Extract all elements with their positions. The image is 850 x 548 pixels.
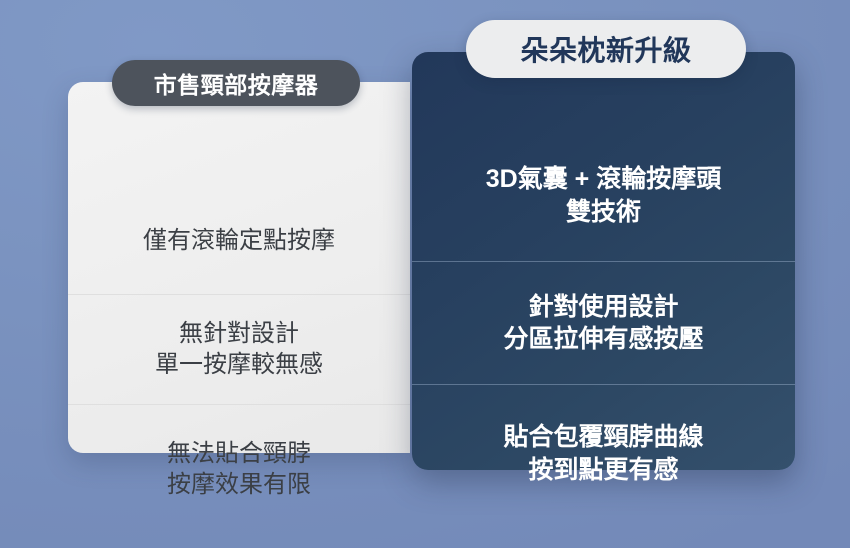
competitor-row-3-line-2: 按摩效果有限 bbox=[167, 470, 311, 501]
product-row-1-line-2: 雙技術 bbox=[486, 196, 721, 229]
product-row-2-line-1: 針對使用設計 bbox=[503, 291, 703, 324]
product-card: 3D氣囊 + 滾輪按摩頭 雙技術 針對使用設計 分區拉伸有感按壓 貼合包覆頸脖曲… bbox=[412, 52, 795, 470]
product-row-1-text: 3D氣囊 + 滾輪按摩頭 雙技術 bbox=[486, 163, 721, 228]
product-row-2-text: 針對使用設計 分區拉伸有感按壓 bbox=[503, 291, 703, 356]
product-row-3-line-2: 按到點更有感 bbox=[503, 454, 703, 487]
product-row-list: 3D氣囊 + 滾輪按摩頭 雙技術 針對使用設計 分區拉伸有感按壓 貼合包覆頸脖曲… bbox=[412, 130, 795, 470]
competitor-card: 僅有滾輪定點按摩 無針對設計 單一按摩較無感 無法貼合頸脖 按摩效果有限 bbox=[68, 82, 410, 453]
competitor-row-3-text: 無法貼合頸脖 按摩效果有限 bbox=[167, 439, 311, 500]
competitor-row-1-text: 僅有滾輪定點按摩 bbox=[143, 226, 335, 257]
product-row-2-line-2: 分區拉伸有感按壓 bbox=[503, 323, 703, 356]
competitor-row-3-line-1: 無法貼合頸脖 bbox=[167, 439, 311, 470]
competitor-row-1-line-1: 僅有滾輪定點按摩 bbox=[143, 226, 335, 257]
competitor-header-pill: 市售頸部按摩器 bbox=[112, 60, 360, 106]
product-row-3-line-1: 貼合包覆頸脖曲線 bbox=[503, 421, 703, 454]
product-header-pill: 朵朵枕新升級 bbox=[466, 20, 746, 78]
product-row-2: 針對使用設計 分區拉伸有感按壓 bbox=[412, 262, 795, 385]
product-row-3-text: 貼合包覆頸脖曲線 按到點更有感 bbox=[503, 421, 703, 486]
competitor-row-2-line-1: 無針對設計 bbox=[155, 319, 323, 350]
product-row-1-line-1: 3D氣囊 + 滾輪按摩頭 bbox=[486, 163, 721, 196]
competitor-row-2-line-2: 單一按摩較無感 bbox=[155, 350, 323, 381]
competitor-row-3: 無法貼合頸脖 按摩效果有限 bbox=[68, 405, 410, 534]
competitor-row-2: 無針對設計 單一按摩較無感 bbox=[68, 295, 410, 405]
competitor-row-list: 僅有滾輪定點按摩 無針對設計 單一按摩較無感 無法貼合頸脖 按摩效果有限 bbox=[68, 188, 410, 453]
competitor-row-1: 僅有滾輪定點按摩 bbox=[68, 188, 410, 295]
product-row-3: 貼合包覆頸脖曲線 按到點更有感 bbox=[412, 385, 795, 522]
product-row-1: 3D氣囊 + 滾輪按摩頭 雙技術 bbox=[412, 130, 795, 262]
competitor-row-2-text: 無針對設計 單一按摩較無感 bbox=[155, 319, 323, 380]
comparison-infographic: 僅有滾輪定點按摩 無針對設計 單一按摩較無感 無法貼合頸脖 按摩效果有限 bbox=[0, 0, 850, 548]
